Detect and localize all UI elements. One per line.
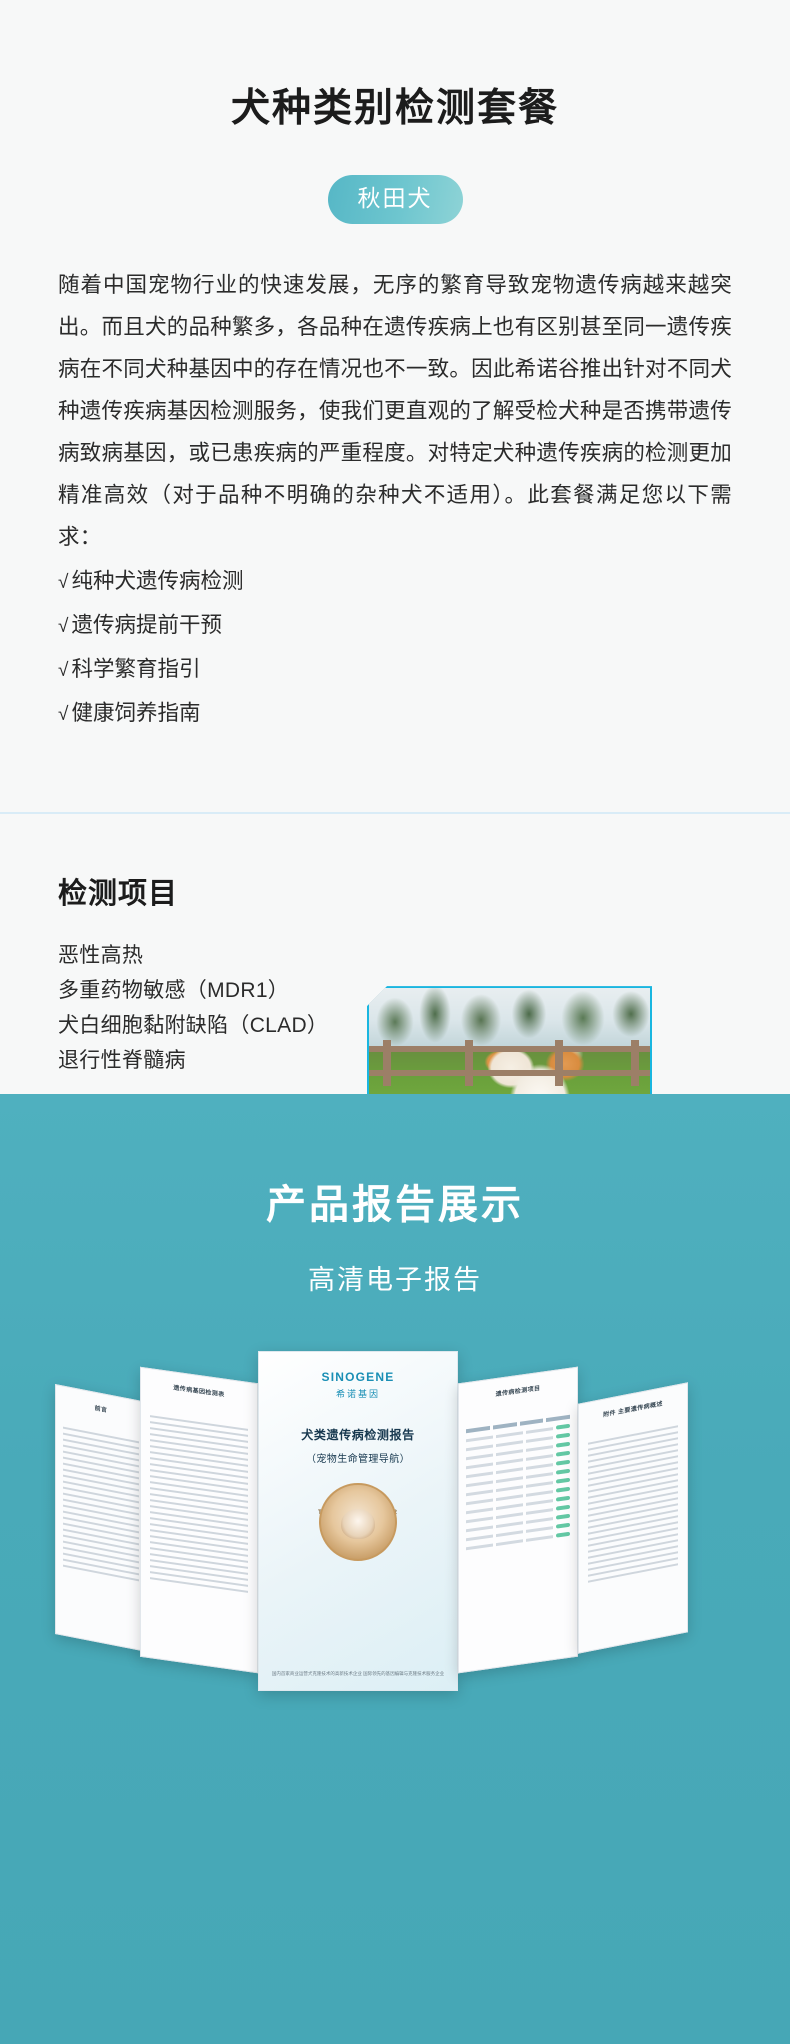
benefit-label: 纯种犬遗传病检测 <box>71 560 243 602</box>
report-page-heading: 遗传病基因检测表 <box>141 1378 257 1403</box>
check-icon: √ <box>58 650 68 692</box>
report-page-4[interactable]: 附件 主要遗传病概述 <box>578 1382 688 1653</box>
photo-fence <box>369 1040 650 1086</box>
breed-badge[interactable]: 秋田犬 <box>328 175 463 224</box>
report-page-1[interactable]: 前言 <box>55 1384 147 1652</box>
report-showcase-section: 产品报告展示 高清电子报告 前言 遗传病基因检测表 SINO <box>0 1094 790 2044</box>
intro-paragraph: 随着中国宠物行业的快速发展，无序的繁育导致宠物遗传病越来越突出。而且犬的品种繁多… <box>58 264 732 558</box>
report-cover-footer: 国内首家商业运营犬克隆技术的高新技术企业 国际领先的基因编辑与克隆技术服务企业 <box>271 1670 445 1678</box>
benefits-list: √ 纯种犬遗传病检测 √ 遗传病提前干预 √ 科学繁育指引 √ 健康饲养指南 <box>58 560 732 736</box>
test-items-section: 检测项目 恶性高热 多重药物敏感（MDR1） 犬白细胞黏附缺陷（CLAD） 退行… <box>0 814 790 1094</box>
report-page-3[interactable]: 遗传病检测项目 <box>458 1367 578 1674</box>
report-page-text <box>150 1415 247 1593</box>
breed-badge-wrap: 秋田犬 <box>0 175 790 224</box>
benefit-label: 科学繁育指引 <box>71 648 200 690</box>
benefit-label: 健康饲养指南 <box>71 692 200 734</box>
report-cover-page[interactable]: SINOGENE 希诺基因 犬类遗传病检测报告 （宠物生命管理导航） TOGET… <box>258 1351 458 1691</box>
check-icon: √ <box>58 562 68 604</box>
report-cover-title: 犬类遗传病检测报告 <box>259 1426 457 1443</box>
list-item: √ 遗传病提前干预 <box>58 604 732 648</box>
check-icon: √ <box>58 606 68 648</box>
report-title: 产品报告展示 <box>0 1172 790 1230</box>
list-item: √ 科学繁育指引 <box>58 648 732 692</box>
brand-name: 希诺基因 <box>259 1387 457 1400</box>
check-icon: √ <box>58 694 68 736</box>
intro-section: 犬种类别检测套餐 秋田犬 随着中国宠物行业的快速发展，无序的繁育导致宠物遗传病越… <box>0 0 790 814</box>
report-page-text <box>63 1426 139 1581</box>
page-title: 犬种类别检测套餐 <box>0 86 790 133</box>
report-page-text <box>588 1425 679 1583</box>
list-item: √ 健康饲养指南 <box>58 692 732 736</box>
list-item: √ 纯种犬遗传病检测 <box>58 560 732 604</box>
list-item: 恶性高热 <box>58 938 790 973</box>
report-page-heading: 遗传病检测项目 <box>459 1378 577 1404</box>
items-heading: 检测项目 <box>58 870 790 912</box>
brand-mark: SINOGENE <box>259 1370 457 1384</box>
report-page-2[interactable]: 遗传病基因检测表 <box>140 1367 258 1674</box>
report-page-table <box>466 1415 570 1556</box>
report-pages-stage: 前言 遗传病基因检测表 SINOGENE 希诺基因 犬 <box>0 1351 790 1771</box>
benefit-label: 遗传病提前干预 <box>71 604 222 646</box>
report-page-heading: 前言 <box>56 1395 146 1421</box>
report-brand: SINOGENE 希诺基因 <box>259 1370 457 1400</box>
report-subtitle: 高清电子报告 <box>0 1258 790 1297</box>
dog-portrait-seal-icon <box>319 1483 397 1561</box>
photo-treeline <box>369 988 650 1046</box>
report-cover-subtitle: （宠物生命管理导航） <box>259 1450 457 1465</box>
report-page-heading: 附件 主要遗传病概述 <box>579 1394 687 1424</box>
